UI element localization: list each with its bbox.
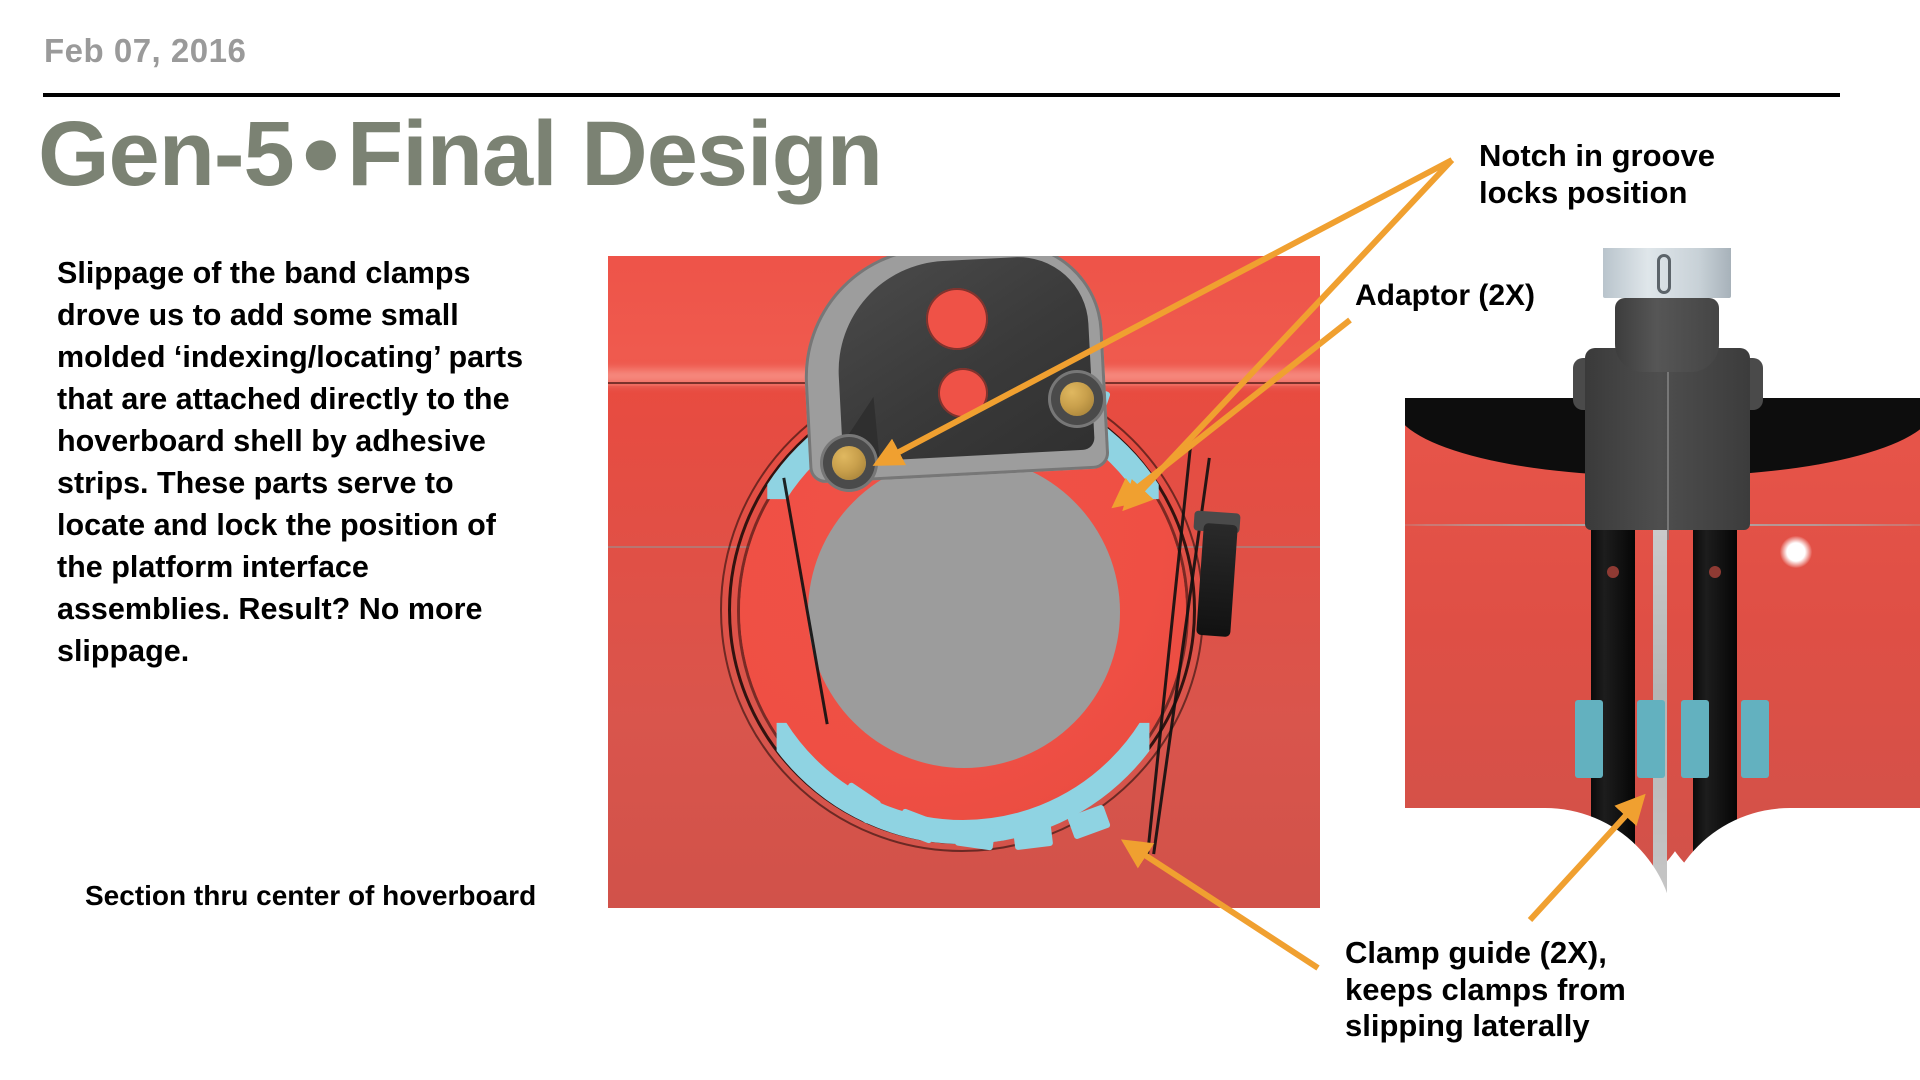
bracket-hole-upper xyxy=(926,288,988,350)
slide-date: Feb 07, 2016 xyxy=(44,32,246,70)
clamp-guide-block xyxy=(1575,700,1603,778)
brass-boss-right xyxy=(1060,382,1094,416)
figure-section-view xyxy=(608,256,1320,908)
header-divider xyxy=(43,93,1840,97)
section-view-caption: Section thru center of hoverboard xyxy=(85,880,536,912)
clamp-guide-block xyxy=(1741,700,1769,778)
center-gap-strip xyxy=(1653,494,1667,894)
brass-boss-left xyxy=(832,446,866,480)
annotation-clamp-line-2: keeps clamps from xyxy=(1345,972,1685,1009)
strap-rivet-left xyxy=(1607,566,1619,578)
bullet-dot-icon: ● xyxy=(294,112,347,190)
clamp-guide-block xyxy=(1637,700,1665,778)
annotation-clamp-guide: Clamp guide (2X), keeps clamps from slip… xyxy=(1345,935,1685,1045)
annotation-notch-line-1: Notch in groove xyxy=(1479,138,1799,175)
figure-adaptor-detail xyxy=(1405,248,1920,918)
page-title-main: Gen-5 xyxy=(38,103,294,205)
strap-rivet-right xyxy=(1709,566,1721,578)
cylinder-slot xyxy=(1657,254,1671,294)
slide-canvas: Feb 07, 2016 Gen-5●Final Design Slippage… xyxy=(0,0,1920,1080)
hub-gray-core xyxy=(808,456,1120,768)
page-title: Gen-5●Final Design xyxy=(38,108,882,200)
page-title-sub: Final Design xyxy=(347,103,882,205)
annotation-clamp-line-3: slipping laterally xyxy=(1345,1008,1685,1045)
adaptor-centerline xyxy=(1667,352,1669,540)
clamp-guide-block xyxy=(1681,700,1709,778)
annotation-notch-line-2: locks position xyxy=(1479,175,1799,212)
adaptor-neck xyxy=(1615,298,1719,372)
annotation-adaptor: Adaptor (2X) xyxy=(1355,278,1535,313)
body-paragraph: Slippage of the band clamps drove us to … xyxy=(57,252,527,672)
guide-tooth xyxy=(1013,824,1053,850)
annotation-clamp-line-1: Clamp guide (2X), xyxy=(1345,935,1685,972)
bracket-hole-lower xyxy=(938,368,988,418)
shell-specular-highlight xyxy=(1780,536,1812,568)
annotation-notch-in-groove: Notch in groove locks position xyxy=(1479,138,1799,211)
